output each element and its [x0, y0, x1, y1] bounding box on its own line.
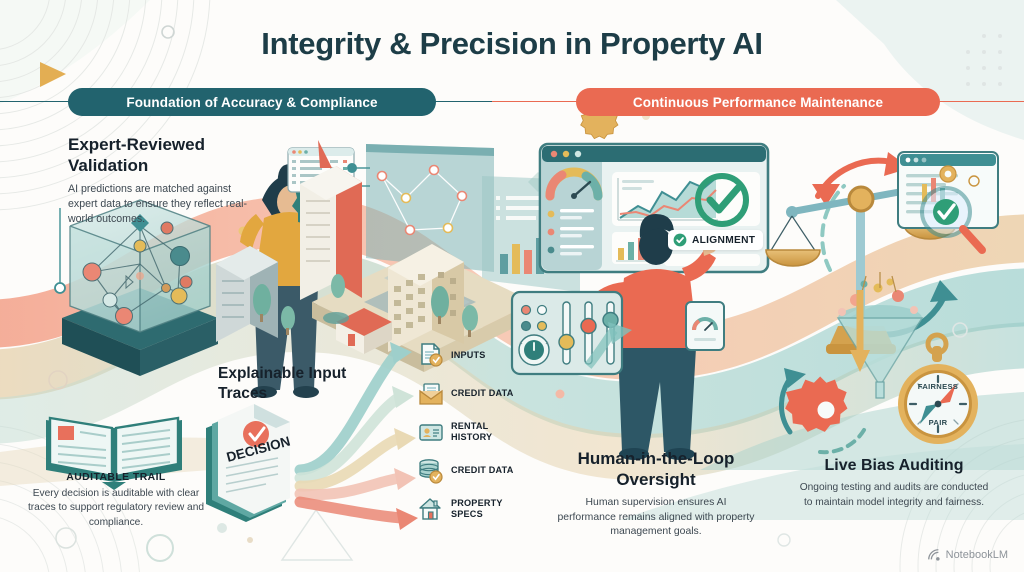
list-item-label: CREDIT DATA — [451, 465, 513, 476]
watermark-label: NotebookLM — [946, 549, 1008, 561]
human-heading: Human-in-the-Loop Oversight — [556, 448, 756, 491]
notebooklm-logo-icon — [927, 548, 941, 562]
explainable-heading: Explainable Input Traces — [218, 364, 368, 403]
envelope-icon — [418, 381, 444, 407]
list-item-label: CREDIT DATA — [451, 388, 513, 399]
list-item: CREDIT DATA — [418, 454, 530, 488]
notebooklm-watermark: NotebookLM — [927, 548, 1008, 562]
document-check-icon — [418, 342, 444, 368]
list-item-label: PROPERTY SPECS — [451, 498, 530, 520]
id-card-icon — [418, 419, 444, 445]
bias-heading: Live Bias Auditing — [796, 456, 992, 476]
compass-label-fairness: FAIRNESS — [908, 382, 968, 391]
alignment-label: ALIGNMENT — [692, 235, 755, 246]
auditable-caption: AUDITABLE TRAIL — [22, 472, 210, 483]
list-item: RENTAL HISTORY — [418, 415, 530, 449]
block-expert-reviewed: Expert-Reviewed Validation AI prediction… — [68, 134, 248, 227]
status-badge-alignment: ALIGNMENT — [668, 230, 763, 250]
block-explainable-traces: Explainable Input Traces — [218, 364, 368, 403]
block-live-bias-auditing: Live Bias Auditing Ongoing testing and a… — [796, 456, 992, 510]
database-check-icon — [418, 458, 444, 484]
check-circle-icon — [673, 233, 687, 247]
list-item-label: RENTAL HISTORY — [451, 421, 530, 443]
banner-continuous: Continuous Performance Maintenance — [576, 88, 940, 116]
house-icon — [418, 496, 444, 522]
gauge-tablet-illustration — [686, 302, 724, 350]
list-item: PROPERTY SPECS — [418, 492, 530, 526]
human-body: Human supervision ensures AI performance… — [556, 496, 756, 540]
block-auditable-trail: AUDITABLE TRAIL Every decision is audita… — [22, 472, 210, 530]
expert-body: AI predictions are matched against exper… — [68, 182, 248, 227]
banner-foundation: Foundation of Accuracy & Compliance — [68, 88, 436, 116]
trace-input-list: INPUTS CREDIT DATA RENTAL HISTORY — [418, 338, 530, 531]
list-item: INPUTS — [418, 338, 530, 372]
bias-body: Ongoing testing and audits are conducted… — [796, 481, 992, 510]
expert-heading: Expert-Reviewed Validation — [68, 134, 248, 177]
compass-label-pair: PAIR — [908, 418, 968, 427]
testing-gear-illustration — [781, 368, 864, 452]
list-item-label: INPUTS — [451, 350, 486, 361]
auditable-body: Every decision is auditable with clear t… — [22, 487, 210, 530]
list-item: CREDIT DATA — [418, 377, 530, 411]
infographic-canvas: Integrity & Precision in Property AI Fou… — [0, 0, 1024, 572]
page-title: Integrity & Precision in Property AI — [0, 26, 1024, 62]
block-human-oversight: Human-in-the-Loop Oversight Human superv… — [556, 448, 756, 540]
decision-document-illustration: DECISION — [206, 404, 292, 522]
